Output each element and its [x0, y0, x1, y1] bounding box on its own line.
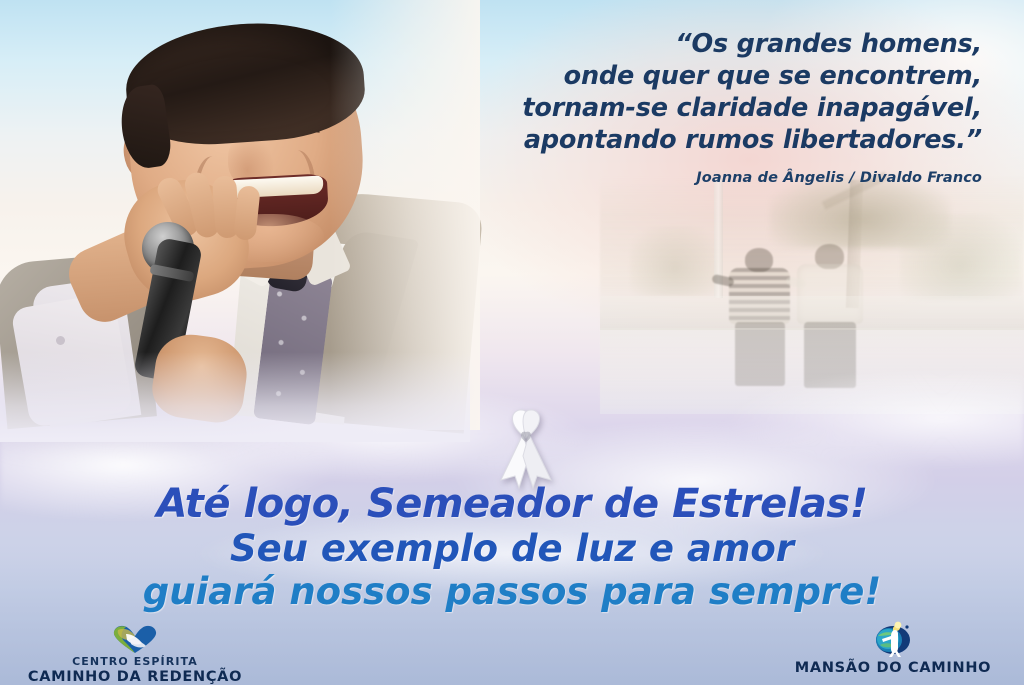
quote-line-3: tornam-se claridade inapagável, — [362, 92, 982, 124]
globe-figure-logo-icon — [869, 618, 917, 658]
logo-mansao-do-caminho: MANSÃO DO CAMINHO — [768, 618, 1018, 676]
logo-centro-espirita-caminho-da-redencao: CENTRO ESPÍRITA CAMINHO DA REDENÇÃO — [10, 624, 260, 685]
shrub-icon — [630, 226, 720, 296]
fence-icon — [600, 296, 1024, 330]
headline-line-3: guiará nossos passos para sempre! — [0, 573, 1024, 611]
heart-hands-logo-icon — [112, 624, 158, 654]
memorial-poster: “Os grandes homens, onde quer que se enc… — [0, 0, 1024, 685]
logo-right-line-1: MANSÃO DO CAMINHO — [768, 660, 1018, 676]
cuff-button — [56, 336, 65, 345]
page-title: Até logo, Semeador de Estrelas! Seu exem… — [0, 484, 1024, 610]
quote-line-4: apontando rumos libertadores.” — [362, 124, 982, 156]
headline-line-1: Até logo, Semeador de Estrelas! — [0, 484, 1024, 525]
quote-line-1: “Os grandes homens, — [362, 28, 982, 60]
white-mourning-ribbon-icon — [493, 408, 559, 490]
quote-attribution: Joanna de Ângelis / Divaldo Franco — [362, 170, 982, 186]
shrub-icon — [900, 214, 1020, 300]
quote-line-2: onde quer que se encontrem, — [362, 60, 982, 92]
logo-left-line-2: CAMINHO DA REDENÇÃO — [10, 669, 260, 685]
headline-line-2: Seu exemplo de luz e amor — [0, 530, 1024, 568]
logo-left-line-1: CENTRO ESPÍRITA — [10, 655, 260, 668]
tribute-quote: “Os grandes homens, onde quer que se enc… — [362, 28, 982, 157]
